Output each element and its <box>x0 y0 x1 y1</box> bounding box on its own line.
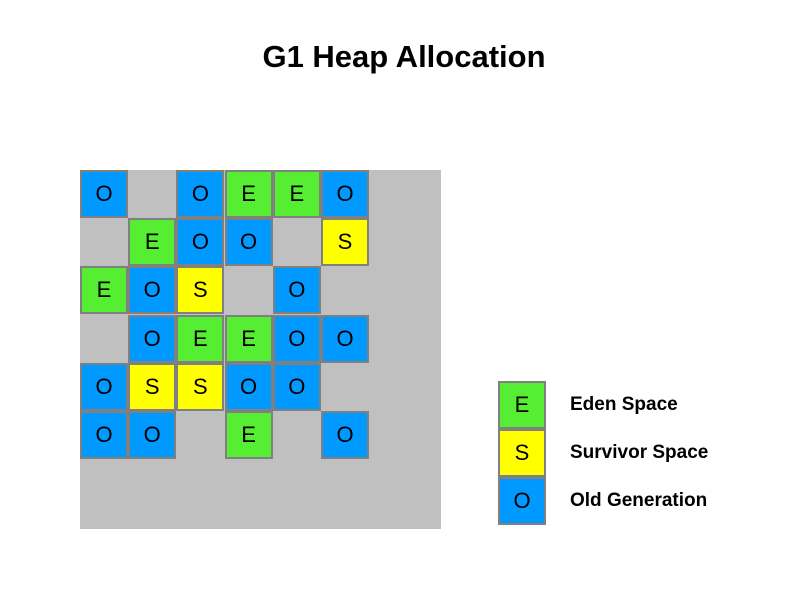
heap-cell-old: O <box>273 363 321 411</box>
heap-cell-label: E <box>193 328 208 350</box>
heap-cell-old: O <box>128 315 176 363</box>
heap-cell-label: O <box>288 376 305 398</box>
heap-cell-label: S <box>338 231 353 253</box>
heap-cell-old: O <box>176 218 224 266</box>
legend-swatch-symbol: E <box>515 394 530 416</box>
heap-panel: OOEEOEOOSEOSOOEEOOOSSOOOOEO <box>80 170 441 529</box>
legend-label-eden: Eden Space <box>570 381 678 429</box>
heap-cell-label: O <box>336 183 353 205</box>
legend-swatch-eden: E <box>498 381 546 429</box>
heap-region-grid: OOEEOEOOSEOSOOEEOOOSSOOOOEO <box>80 170 370 460</box>
legend-label-survivor: Survivor Space <box>570 429 708 477</box>
heap-cell-old: O <box>80 363 128 411</box>
heap-cell-label: E <box>289 183 304 205</box>
heap-cell-label: S <box>193 279 208 301</box>
heap-cell-old: O <box>321 170 369 218</box>
heap-cell-label: E <box>241 183 256 205</box>
heap-cell-eden: E <box>225 170 273 218</box>
heap-cell-empty <box>176 411 224 459</box>
heap-cell-old: O <box>80 411 128 459</box>
heap-cell-empty <box>225 266 273 314</box>
heap-cell-old: O <box>80 170 128 218</box>
heap-cell-label: O <box>95 376 112 398</box>
heap-cell-eden: E <box>273 170 321 218</box>
heap-cell-empty <box>128 170 176 218</box>
heap-cell-label: O <box>240 376 257 398</box>
heap-cell-old: O <box>273 266 321 314</box>
heap-cell-label: O <box>192 183 209 205</box>
legend-item-survivor: SSurvivor Space <box>498 429 798 477</box>
heap-cell-label: E <box>97 279 112 301</box>
heap-cell-label: O <box>95 183 112 205</box>
heap-cell-label: O <box>288 328 305 350</box>
legend: EEden SpaceSSurvivor SpaceOOld Generatio… <box>498 381 798 525</box>
heap-cell-old: O <box>225 218 273 266</box>
heap-cell-label: O <box>144 424 161 446</box>
heap-cell-old: O <box>225 363 273 411</box>
heap-cell-label: O <box>144 279 161 301</box>
heap-cell-label: O <box>95 424 112 446</box>
heap-cell-eden: E <box>128 218 176 266</box>
heap-cell-survivor: S <box>176 266 224 314</box>
heap-cell-old: O <box>273 315 321 363</box>
heap-cell-empty <box>80 315 128 363</box>
heap-cell-label: O <box>240 231 257 253</box>
heap-cell-label: E <box>241 424 256 446</box>
legend-swatch-symbol: O <box>513 490 530 512</box>
heap-cell-label: S <box>145 376 160 398</box>
page-title: G1 Heap Allocation <box>0 38 808 76</box>
heap-cell-eden: E <box>80 266 128 314</box>
heap-cell-old: O <box>321 411 369 459</box>
heap-cell-label: O <box>336 424 353 446</box>
heap-cell-survivor: S <box>321 218 369 266</box>
legend-swatch-survivor: S <box>498 429 546 477</box>
heap-cell-empty <box>80 218 128 266</box>
heap-cell-label: O <box>288 279 305 301</box>
heap-cell-old: O <box>128 411 176 459</box>
heap-cell-empty <box>273 411 321 459</box>
heap-cell-empty <box>321 266 369 314</box>
legend-item-eden: EEden Space <box>498 381 798 429</box>
legend-swatch-old: O <box>498 477 546 525</box>
heap-cell-old: O <box>176 170 224 218</box>
legend-swatch-symbol: S <box>515 442 530 464</box>
heap-cell-eden: E <box>225 411 273 459</box>
heap-cell-eden: E <box>225 315 273 363</box>
heap-cell-label: O <box>192 231 209 253</box>
heap-cell-label: O <box>336 328 353 350</box>
heap-cell-survivor: S <box>176 363 224 411</box>
heap-cell-old: O <box>321 315 369 363</box>
heap-cell-label: E <box>241 328 256 350</box>
heap-cell-label: S <box>193 376 208 398</box>
heap-cell-empty <box>273 218 321 266</box>
legend-label-old: Old Generation <box>570 477 707 525</box>
legend-item-old: OOld Generation <box>498 477 798 525</box>
heap-cell-old: O <box>128 266 176 314</box>
heap-cell-empty <box>321 363 369 411</box>
heap-cell-eden: E <box>176 315 224 363</box>
heap-cell-survivor: S <box>128 363 176 411</box>
heap-cell-label: E <box>145 231 160 253</box>
heap-cell-label: O <box>144 328 161 350</box>
